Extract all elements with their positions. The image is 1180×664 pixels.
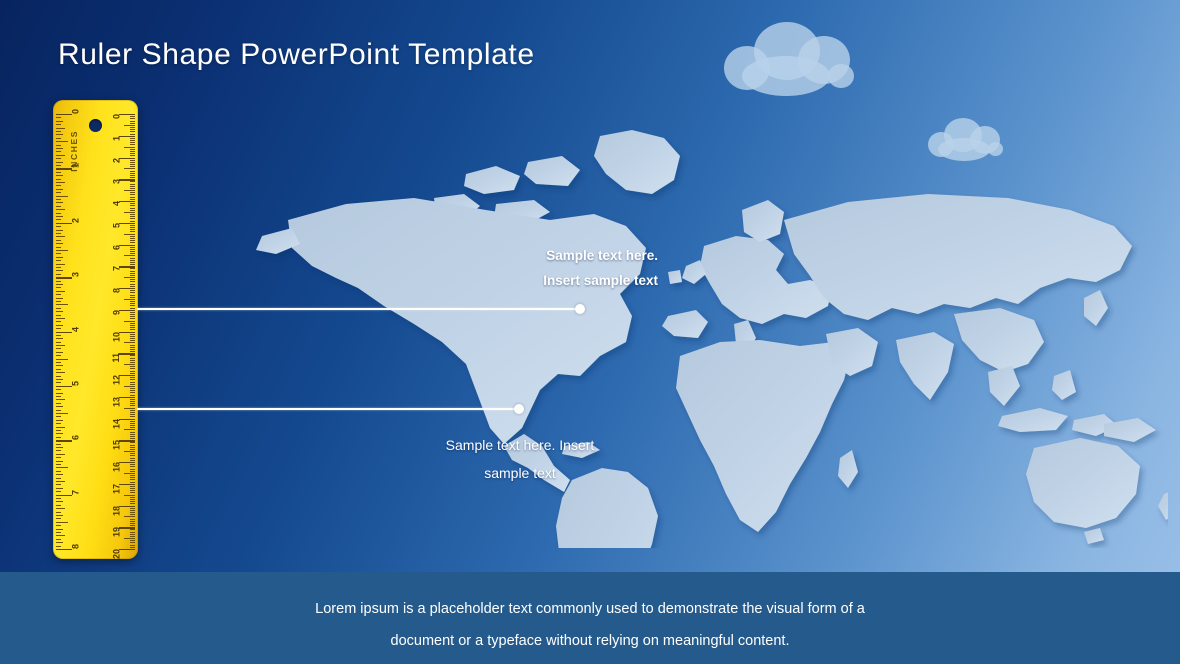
ruler-tick <box>56 362 61 363</box>
ruler-tick <box>130 347 135 348</box>
ruler-tick <box>56 420 63 421</box>
ruler-tick <box>130 314 135 315</box>
ruler-tick <box>130 521 135 522</box>
ruler-tick <box>124 299 135 300</box>
ruler-tick <box>56 498 61 499</box>
ruler-tick <box>130 479 135 480</box>
ruler-tick <box>130 286 135 287</box>
ruler-tick <box>130 171 135 172</box>
ruler-tick <box>130 545 135 546</box>
ruler-tick <box>130 153 135 154</box>
ruler-tick <box>130 166 135 167</box>
ruler-tick <box>130 225 135 226</box>
ruler-tick <box>130 534 135 535</box>
ruler-tick <box>56 158 61 159</box>
ruler-tick <box>130 379 135 380</box>
ruler-tick <box>124 495 135 496</box>
ruler-tick <box>130 323 135 324</box>
ruler-tick <box>56 512 61 513</box>
ruler-tick <box>130 303 135 304</box>
ruler-tick <box>130 155 135 156</box>
ruler-tick <box>56 114 72 115</box>
ruler-tick <box>124 190 135 191</box>
ruler-tick <box>130 249 135 250</box>
ruler-tick <box>130 512 135 513</box>
callout-1-line-1: Sample text here. <box>380 243 658 268</box>
ruler-tick <box>56 474 63 475</box>
ruler-tick <box>130 229 135 230</box>
ruler-tick <box>124 277 135 278</box>
ruler-tick <box>56 348 61 349</box>
ruler-tick <box>130 140 135 141</box>
ruler-number: 13 <box>113 397 122 407</box>
ruler-number: 5 <box>72 381 81 386</box>
ruler-tick <box>130 238 135 239</box>
ruler-tick <box>56 522 68 523</box>
ruler-tick <box>56 518 61 519</box>
ruler-tick <box>130 258 135 259</box>
ruler-tick <box>130 477 135 478</box>
ruler-tick <box>130 532 135 533</box>
ruler-number: 2 <box>72 218 81 223</box>
ruler-tick <box>130 464 135 465</box>
ruler-number: 10 <box>113 332 122 342</box>
ruler-tick <box>130 447 135 448</box>
ruler-tick <box>130 434 135 435</box>
ruler-tick <box>130 547 135 548</box>
ruler-tick <box>130 421 135 422</box>
ruler-tick <box>130 325 135 326</box>
ruler-number: 7 <box>72 490 81 495</box>
ruler-tick <box>130 295 135 296</box>
ruler-tick <box>124 321 135 322</box>
ruler-tick <box>56 253 61 254</box>
ruler-number: 16 <box>113 462 122 472</box>
callout-marker-dot[interactable] <box>514 404 524 414</box>
ruler-tick <box>130 192 135 193</box>
ruler-tick <box>56 338 63 339</box>
ruler-tick <box>56 501 63 502</box>
ruler-tick <box>56 165 61 166</box>
ruler-tick <box>130 403 135 404</box>
ruler-tick <box>130 312 135 313</box>
ruler-tick <box>130 247 135 248</box>
ruler-tick <box>56 325 63 326</box>
ruler-tick <box>56 328 61 329</box>
ruler-tick <box>130 279 135 280</box>
ruler-tick <box>130 432 135 433</box>
ruler-tick <box>130 273 135 274</box>
ruler-tick <box>130 449 135 450</box>
ruler-tick <box>130 264 135 265</box>
ruler-tick <box>130 203 135 204</box>
ruler-tick <box>56 219 61 220</box>
ruler-tick <box>56 257 63 258</box>
ruler-tick <box>130 475 135 476</box>
ruler-tick <box>130 199 135 200</box>
ruler-tick <box>130 281 135 282</box>
ruler-tick <box>56 393 63 394</box>
ruler-tick <box>130 131 135 132</box>
ruler-tick <box>56 539 61 540</box>
ruler-tick <box>56 270 63 271</box>
ruler-number: 12 <box>113 375 122 385</box>
ruler-tick <box>124 408 135 409</box>
ruler-tick <box>56 128 65 129</box>
ruler-tick <box>130 490 135 491</box>
ruler-tick <box>130 188 135 189</box>
ruler-number: 8 <box>72 544 81 549</box>
ruler-tick <box>56 355 61 356</box>
ruler-tick <box>56 182 65 183</box>
ruler-tick <box>56 151 61 152</box>
ruler-tick <box>130 399 135 400</box>
callout-text-2[interactable]: Sample text here. Insert sample text <box>400 431 640 487</box>
ruler-tick <box>130 275 135 276</box>
ruler-tick <box>130 368 135 369</box>
ruler-number: 8 <box>113 288 122 293</box>
ruler-tick <box>56 206 61 207</box>
ruler-tick <box>56 216 63 217</box>
ruler-tick <box>130 442 135 443</box>
ruler-tick <box>130 205 135 206</box>
ruler-tick <box>124 516 135 517</box>
ruler-tick <box>56 386 72 387</box>
ruler-tick <box>56 308 61 309</box>
footer-text: Lorem ipsum is a placeholder text common… <box>240 593 940 657</box>
ruler-tick <box>56 488 63 489</box>
ruler-tick <box>56 549 72 550</box>
ruler-tick <box>56 162 63 163</box>
ruler-tick <box>56 382 61 383</box>
ruler-tick <box>56 236 65 237</box>
callout-2-line-1: Sample text here. Insert <box>400 431 640 459</box>
ruler-tick <box>130 290 135 291</box>
ruler-tick <box>56 403 61 404</box>
ruler-tick <box>130 116 135 117</box>
ruler-tick <box>124 255 135 256</box>
ruler-number: 1 <box>113 136 122 141</box>
ruler-tick <box>124 125 135 126</box>
ruler-tick <box>56 185 61 186</box>
ruler-tick <box>130 173 135 174</box>
ruler-tick <box>130 262 135 263</box>
ruler-tick <box>56 277 72 278</box>
ruler-tick <box>56 491 61 492</box>
ruler-tick <box>124 212 135 213</box>
ruler-tick <box>56 406 63 407</box>
ruler-tick <box>130 138 135 139</box>
callout-marker-dot[interactable] <box>575 304 585 314</box>
ruler-tick <box>124 364 135 365</box>
ruler-tick <box>130 194 135 195</box>
ruler-tick <box>56 175 63 176</box>
ruler-tick <box>130 197 135 198</box>
ruler-tick <box>130 318 135 319</box>
ruler-tick <box>56 542 63 543</box>
ruler-tick <box>130 410 135 411</box>
ruler-tick <box>130 214 135 215</box>
ruler-tick <box>56 396 61 397</box>
ruler-tick <box>56 410 61 411</box>
callout-leader-line <box>137 308 580 310</box>
ruler-tick <box>130 355 135 356</box>
ruler-tick <box>130 384 135 385</box>
ruler-tick <box>56 427 65 428</box>
page-title: Ruler Shape PowerPoint Template <box>58 38 535 72</box>
ruler-tick <box>130 231 135 232</box>
ruler-tick <box>124 342 135 343</box>
ruler-tick <box>130 271 135 272</box>
ruler-tick <box>56 525 61 526</box>
ruler-tick <box>130 268 135 269</box>
ruler-tick <box>130 371 135 372</box>
ruler-tick <box>56 532 61 533</box>
ruler-number: 20 <box>113 549 122 559</box>
ruler-tick <box>56 447 63 448</box>
ruler-tick <box>130 129 135 130</box>
ruler-tick <box>130 542 135 543</box>
ruler-tick <box>56 291 65 292</box>
ruler-tick <box>130 253 135 254</box>
ruler-tick <box>56 196 68 197</box>
ruler-tick <box>56 138 61 139</box>
ruler-tick <box>56 365 63 366</box>
ruler-tick <box>130 260 135 261</box>
ruler-tick <box>56 440 72 441</box>
ruler-number: 19 <box>113 527 122 537</box>
ruler-tick <box>130 499 135 500</box>
ruler-tick <box>56 294 61 295</box>
callout-leader-line <box>137 408 519 410</box>
ruler-tick <box>124 168 135 169</box>
ruler-number: 4 <box>72 326 81 331</box>
ruler-tick <box>130 373 135 374</box>
ruler-tick <box>124 386 135 387</box>
ruler-tick <box>56 546 61 547</box>
ruler-tick <box>130 127 135 128</box>
ruler-tick <box>56 250 68 251</box>
ruler-tick <box>130 392 135 393</box>
ruler-tick <box>130 177 135 178</box>
ruler-tick <box>56 243 63 244</box>
ruler-tick <box>56 318 65 319</box>
ruler-tick <box>56 471 61 472</box>
ruler-tick <box>56 134 63 135</box>
ruler-tick <box>124 451 135 452</box>
ruler-tick <box>130 338 135 339</box>
ruler-tick <box>130 453 135 454</box>
ruler-tick <box>56 260 61 261</box>
ruler-tick <box>130 427 135 428</box>
ruler-tick <box>130 227 135 228</box>
ruler-tick <box>130 486 135 487</box>
ruler-tick <box>56 202 63 203</box>
ruler-tick <box>56 247 61 248</box>
ruler-tick <box>130 412 135 413</box>
ruler-tick <box>130 360 135 361</box>
ruler-tick <box>56 461 63 462</box>
ruler-tick <box>130 284 135 285</box>
ruler-tick <box>130 514 135 515</box>
ruler-number: 14 <box>113 419 122 429</box>
ruler-tick <box>56 345 65 346</box>
ruler-tick <box>130 395 135 396</box>
ruler-tick <box>56 416 61 417</box>
ruler-tick <box>124 147 135 148</box>
ruler-tick <box>130 536 135 537</box>
ruler-tick <box>130 492 135 493</box>
footer-band: Lorem ipsum is a placeholder text common… <box>0 572 1180 664</box>
ruler-tick <box>56 359 68 360</box>
ruler-tick <box>130 508 135 509</box>
ruler-tick <box>130 118 135 119</box>
ruler-tick <box>56 379 63 380</box>
ruler-tick <box>56 430 61 431</box>
footer-line-1: Lorem ipsum is a placeholder text common… <box>240 593 940 625</box>
ruler-tick <box>56 529 63 530</box>
ruler-tick <box>130 349 135 350</box>
ruler-tick <box>130 466 135 467</box>
ruler-tick <box>56 121 63 122</box>
ruler-tick <box>56 192 61 193</box>
ruler-tick <box>130 292 135 293</box>
ruler-tick <box>130 423 135 424</box>
ruler-number: 6 <box>72 435 81 440</box>
ruler-tick <box>56 168 72 169</box>
ruler-number: 9 <box>113 310 122 315</box>
callout-2-line-2: sample text <box>400 459 640 487</box>
ruler-number: 15 <box>113 440 122 450</box>
ruler-tick <box>130 301 135 302</box>
ruler-tick <box>130 460 135 461</box>
ruler-number: 0 <box>113 114 122 119</box>
ruler-tick <box>130 523 135 524</box>
ruler-tick <box>130 497 135 498</box>
ruler-tick <box>130 351 135 352</box>
ruler-tick <box>130 142 135 143</box>
ruler-tick <box>130 401 135 402</box>
ruler-tick <box>56 352 63 353</box>
ruler-tick <box>130 362 135 363</box>
ruler-tick <box>56 464 61 465</box>
ruler-tick <box>56 389 61 390</box>
ruler-tick <box>56 433 63 434</box>
ruler-tick <box>124 429 135 430</box>
ruler-tick <box>56 145 61 146</box>
ruler-number: 0 <box>72 109 81 114</box>
ruler-tick <box>56 372 65 373</box>
ruler-shape[interactable]: INCHES 012345678 01234567891011121314151… <box>53 100 138 559</box>
ruler-tick <box>130 164 135 165</box>
ruler-tick <box>130 510 135 511</box>
ruler-tick <box>130 251 135 252</box>
ruler-tick <box>56 172 61 173</box>
ruler-tick <box>130 123 135 124</box>
ruler-tick <box>124 538 135 539</box>
ruler-tick <box>130 336 135 337</box>
ruler-tick <box>130 458 135 459</box>
ruler-tick <box>130 471 135 472</box>
ruler-tick <box>56 298 63 299</box>
ruler-tick <box>130 208 135 209</box>
ruler-tick <box>56 240 61 241</box>
ruler-tick <box>56 284 63 285</box>
ruler-tick <box>130 216 135 217</box>
ruler-tick <box>130 388 135 389</box>
ruler-tick <box>130 151 135 152</box>
ruler-number: 1 <box>72 163 81 168</box>
ruler-tick <box>56 457 61 458</box>
ruler-tick <box>56 274 61 275</box>
ruler-tick <box>56 423 61 424</box>
callout-text-1[interactable]: Sample text here. Insert sample text <box>380 243 658 293</box>
ruler-tick <box>56 233 61 234</box>
ruler-tick <box>56 304 68 305</box>
ruler-tick <box>130 149 135 150</box>
ruler-tick <box>130 297 135 298</box>
ruler-tick <box>130 121 135 122</box>
ruler-tick <box>130 340 135 341</box>
ruler-tick <box>56 454 65 455</box>
ruler-tick <box>130 184 135 185</box>
callout-1-line-2: Insert sample text <box>380 268 658 293</box>
ruler-tick <box>130 416 135 417</box>
ruler-tick <box>130 455 135 456</box>
ruler-scale-inches: 012345678 <box>56 100 92 559</box>
ruler-tick <box>130 501 135 502</box>
ruler-tick <box>130 519 135 520</box>
ruler-tick <box>56 505 61 506</box>
ruler-number: 11 <box>113 353 122 363</box>
ruler-tick <box>130 242 135 243</box>
ruler-number: 6 <box>113 245 122 250</box>
ruler-tick <box>130 210 135 211</box>
ruler-tick <box>130 469 135 470</box>
ruler-tick <box>56 117 61 118</box>
ruler-tick <box>56 376 61 377</box>
ruler-tick <box>130 345 135 346</box>
ruler-tick <box>56 481 65 482</box>
ruler-tick <box>130 316 135 317</box>
ruler-tick <box>56 281 61 282</box>
ruler-tick <box>56 535 65 536</box>
ruler-tick <box>56 484 61 485</box>
ruler-tick <box>130 134 135 135</box>
ruler-tick <box>130 525 135 526</box>
ruler-tick <box>56 141 68 142</box>
ruler-tick <box>130 482 135 483</box>
ruler-tick <box>56 369 61 370</box>
ruler-tick <box>130 438 135 439</box>
ruler-tick <box>56 230 63 231</box>
ruler-tick <box>130 329 135 330</box>
ruler-tick <box>56 335 61 336</box>
ruler-tick <box>56 450 61 451</box>
ruler-tick <box>130 144 135 145</box>
ruler-tick <box>130 405 135 406</box>
ruler-tick <box>56 515 63 516</box>
ruler-tick <box>124 473 135 474</box>
ruler-tick <box>56 199 61 200</box>
ruler-number: 7 <box>113 266 122 271</box>
ruler-tick <box>56 287 61 288</box>
ruler-tick <box>130 390 135 391</box>
ruler-tick <box>130 334 135 335</box>
ruler-tick <box>56 478 61 479</box>
ruler-tick <box>130 221 135 222</box>
cloud-icon <box>724 22 884 98</box>
